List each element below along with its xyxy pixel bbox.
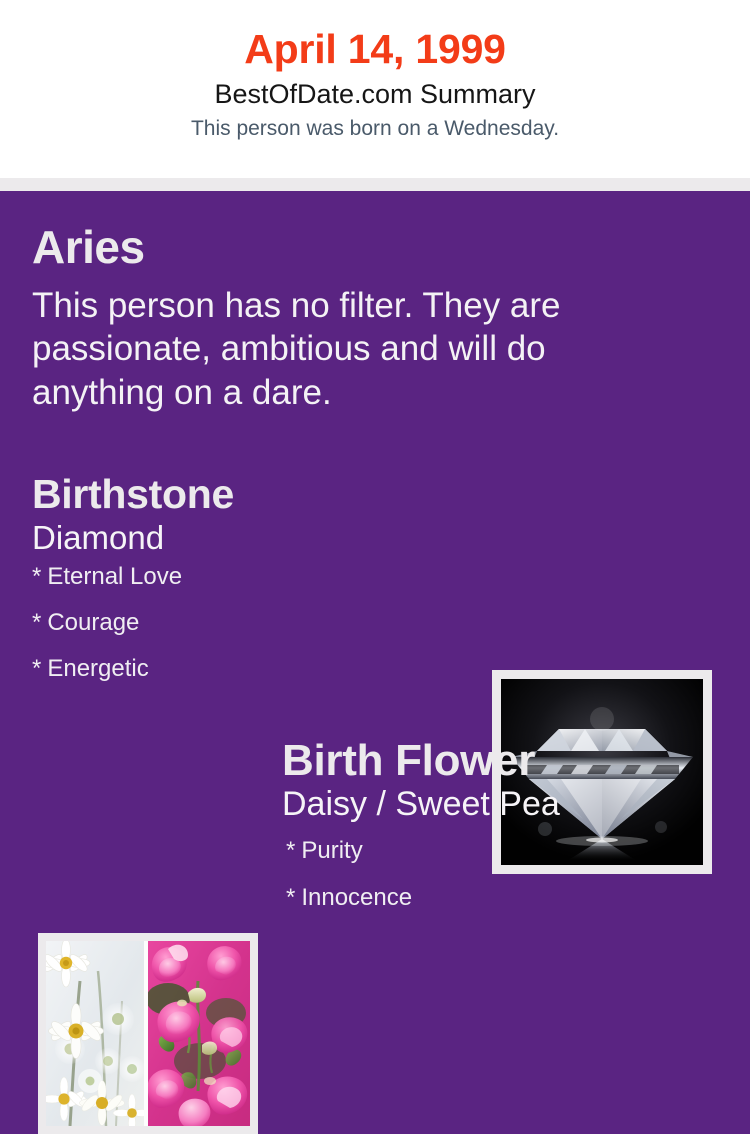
list-item: *Purity xyxy=(286,839,732,886)
content-panel: Aries This person has no filter. They ar… xyxy=(0,191,750,1000)
birthstone-value: Diamond xyxy=(32,515,462,556)
birthstone-title: Birthstone xyxy=(32,474,462,515)
daisy-image xyxy=(46,941,144,1126)
birth-flower-trait-list: *Purity *Innocence xyxy=(282,823,732,933)
header: April 14, 1999 BestOfDate.com Summary Th… xyxy=(0,0,750,178)
site-name: BestOfDate.com Summary xyxy=(0,71,750,110)
bullet-star-icon: * xyxy=(286,886,301,910)
bullet-star-icon: * xyxy=(32,565,47,589)
zodiac-sign-name: Aries xyxy=(32,224,662,270)
birth-flower-title: Birth Flower xyxy=(282,739,732,783)
trait-label: Purity xyxy=(301,837,362,864)
zodiac-section: Aries This person has no filter. They ar… xyxy=(32,224,662,414)
bullet-star-icon: * xyxy=(32,657,47,681)
bullet-star-icon: * xyxy=(286,839,301,863)
list-item: *Courage xyxy=(32,611,462,657)
page-title-date: April 14, 1999 xyxy=(0,0,750,71)
birthstone-trait-list: *Eternal Love *Courage *Energetic xyxy=(32,556,462,703)
birthstone-section: Birthstone Diamond *Eternal Love *Courag… xyxy=(32,474,462,703)
summary-card: April 14, 1999 BestOfDate.com Summary Th… xyxy=(0,0,750,1000)
header-divider xyxy=(0,178,750,191)
list-item: *Eternal Love xyxy=(32,565,462,611)
list-item: *Innocence xyxy=(286,886,732,933)
trait-label: Eternal Love xyxy=(47,563,182,590)
sweet-pea-image xyxy=(148,941,250,1126)
birth-flower-image-frame xyxy=(38,933,258,1134)
zodiac-description: This person has no filter. They are pass… xyxy=(32,270,652,414)
trait-label: Courage xyxy=(47,609,139,636)
birth-flower-value: Daisy / Sweet Pea xyxy=(282,783,732,823)
trait-label: Innocence xyxy=(301,884,412,911)
sweet-pea-icon xyxy=(148,941,250,1126)
daisy-icon xyxy=(46,941,144,1126)
bullet-star-icon: * xyxy=(32,611,47,635)
trait-label: Energetic xyxy=(47,655,148,682)
birth-flower-section: Birth Flower Daisy / Sweet Pea *Purity *… xyxy=(282,739,732,933)
list-item: *Energetic xyxy=(32,657,462,703)
birth-flower-image xyxy=(46,941,250,1126)
born-day-line: This person was born on a Wednesday. xyxy=(0,110,750,140)
